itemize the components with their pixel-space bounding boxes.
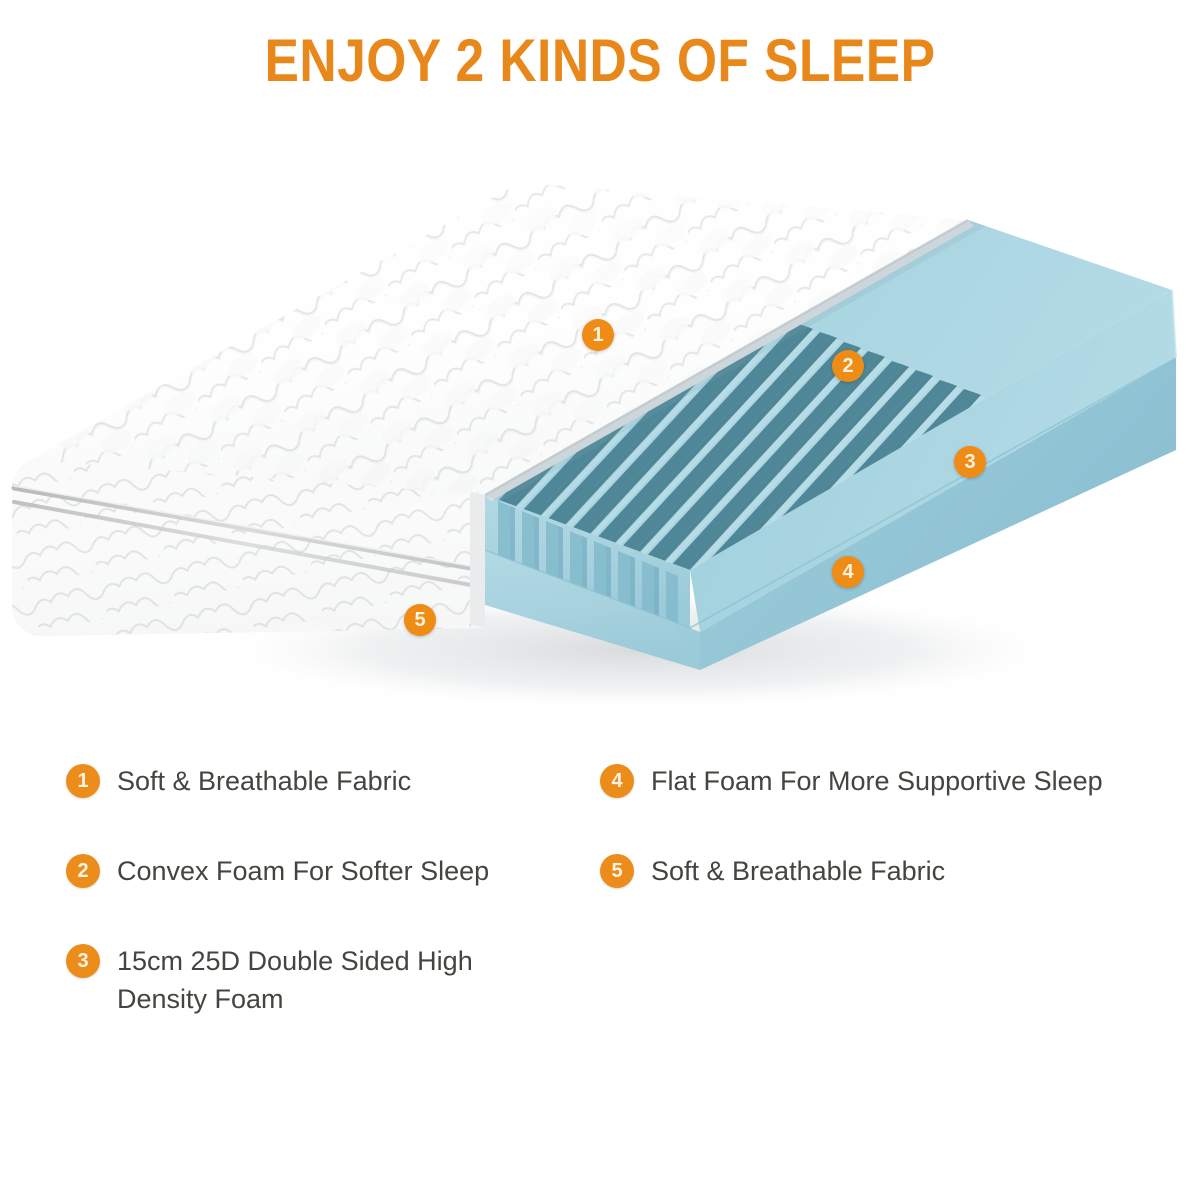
legend-label-3: 15cm 25D Double Sided High Density Foam bbox=[117, 942, 537, 1018]
legend-badge-4: 4 bbox=[600, 764, 634, 798]
callout-badge-3: 3 bbox=[954, 446, 986, 478]
callout-badge-5: 5 bbox=[404, 604, 436, 636]
legend-item-5: 5 Soft & Breathable Fabric bbox=[600, 852, 1190, 890]
legend-badge-2: 2 bbox=[66, 854, 100, 888]
callout-badge-1: 1 bbox=[582, 319, 614, 351]
legend-item-1: 1 Soft & Breathable Fabric bbox=[66, 762, 586, 800]
fabric-thickness-left bbox=[470, 492, 485, 628]
legend-item-3: 3 15cm 25D Double Sided High Density Foa… bbox=[66, 942, 586, 1018]
legend: 1 Soft & Breathable Fabric 2 Convex Foam… bbox=[0, 762, 1200, 1092]
callout-badge-4: 4 bbox=[832, 556, 864, 588]
legend-badge-5: 5 bbox=[600, 854, 634, 888]
legend-column-left: 1 Soft & Breathable Fabric 2 Convex Foam… bbox=[66, 762, 586, 1070]
legend-column-right: 4 Flat Foam For More Supportive Sleep 5 … bbox=[600, 762, 1190, 942]
callout-badge-2: 2 bbox=[832, 350, 864, 382]
legend-label-1: Soft & Breathable Fabric bbox=[117, 762, 411, 800]
legend-badge-1: 1 bbox=[66, 764, 100, 798]
legend-label-4: Flat Foam For More Supportive Sleep bbox=[651, 762, 1103, 800]
legend-item-4: 4 Flat Foam For More Supportive Sleep bbox=[600, 762, 1190, 800]
mattress-cutaway-illustration: 1 2 3 4 5 bbox=[0, 150, 1200, 750]
title-bar: ENJOY 2 KINDS OF SLEEP bbox=[0, 28, 1200, 94]
legend-label-5: Soft & Breathable Fabric bbox=[651, 852, 945, 890]
page-title: ENJOY 2 KINDS OF SLEEP bbox=[84, 28, 1116, 94]
legend-badge-3: 3 bbox=[66, 944, 100, 978]
legend-item-2: 2 Convex Foam For Softer Sleep bbox=[66, 852, 586, 890]
legend-label-2: Convex Foam For Softer Sleep bbox=[117, 852, 489, 890]
